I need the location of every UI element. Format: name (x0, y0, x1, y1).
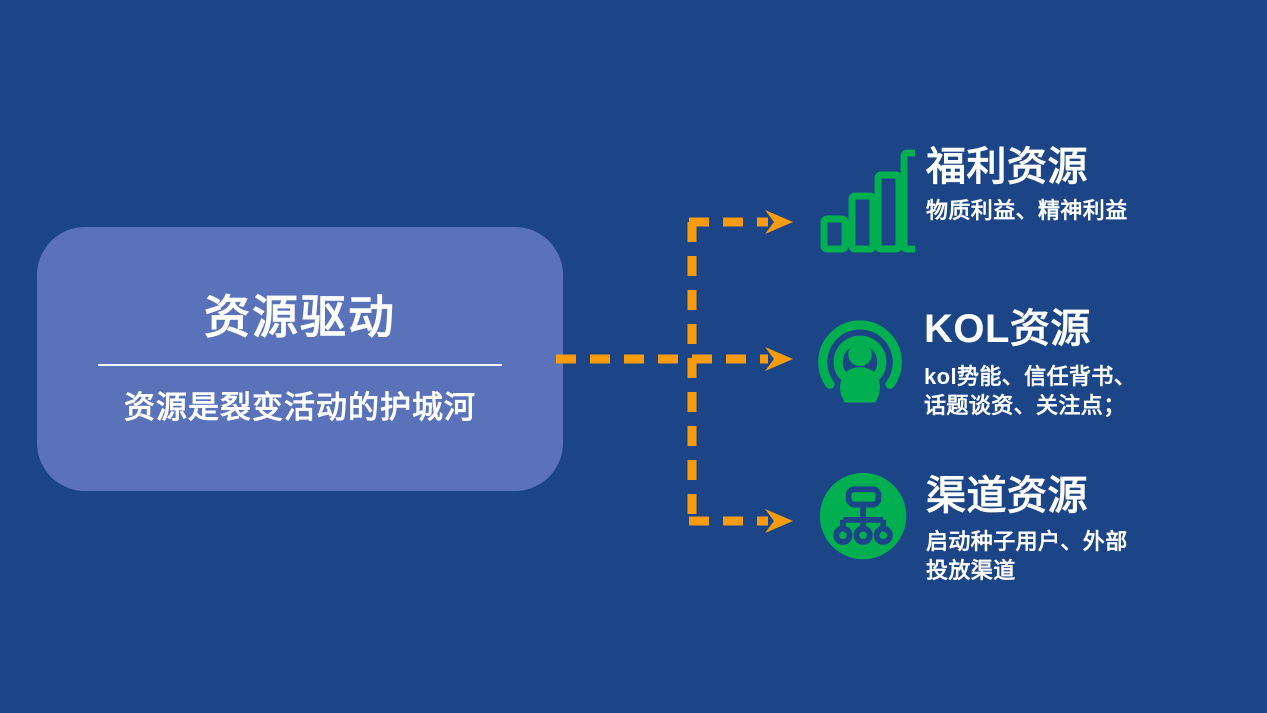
hero-divider (98, 364, 502, 366)
resource-item-text: 渠道资源 启动种子用户、外部 投放渠道 (926, 468, 1128, 585)
resource-item-kol: KOL资源 kol势能、信任背书、 话题谈资、关注点； (810, 303, 1136, 420)
hero-subtitle: 资源是裂变活动的护城河 (124, 390, 476, 426)
resource-item-subline: 物质利益、精神利益 (926, 196, 1128, 225)
hero-title: 资源驱动 (204, 292, 396, 343)
bar-chart-icon (815, 143, 915, 253)
resource-item-heading: KOL资源 (924, 307, 1136, 352)
podcast-broadcast-icon (810, 303, 910, 413)
resource-item-subline: 话题谈资、关注点； (924, 391, 1136, 420)
resource-item-subline: 启动种子用户、外部 (926, 527, 1128, 556)
resource-item-channel: 渠道资源 启动种子用户、外部 投放渠道 (815, 468, 1128, 585)
resource-item-heading: 福利资源 (926, 145, 1128, 190)
dashed-branch-arrows-icon (556, 200, 806, 545)
hero-card: 资源驱动 资源是裂变活动的护城河 (37, 227, 563, 491)
resource-item-subline: kol势能、信任背书、 (924, 362, 1136, 391)
resource-item-text: KOL资源 kol势能、信任背书、 话题谈资、关注点； (924, 303, 1136, 420)
resource-item-subline: 投放渠道 (926, 556, 1128, 585)
org-chart-circle-icon (815, 468, 915, 568)
slide-canvas: 资源驱动 资源是裂变活动的护城河 福利资源 物质 (0, 0, 1267, 713)
resource-item-welfare: 福利资源 物质利益、精神利益 (815, 143, 1128, 253)
resource-item-heading: 渠道资源 (926, 474, 1128, 519)
resource-item-text: 福利资源 物质利益、精神利益 (926, 143, 1128, 225)
